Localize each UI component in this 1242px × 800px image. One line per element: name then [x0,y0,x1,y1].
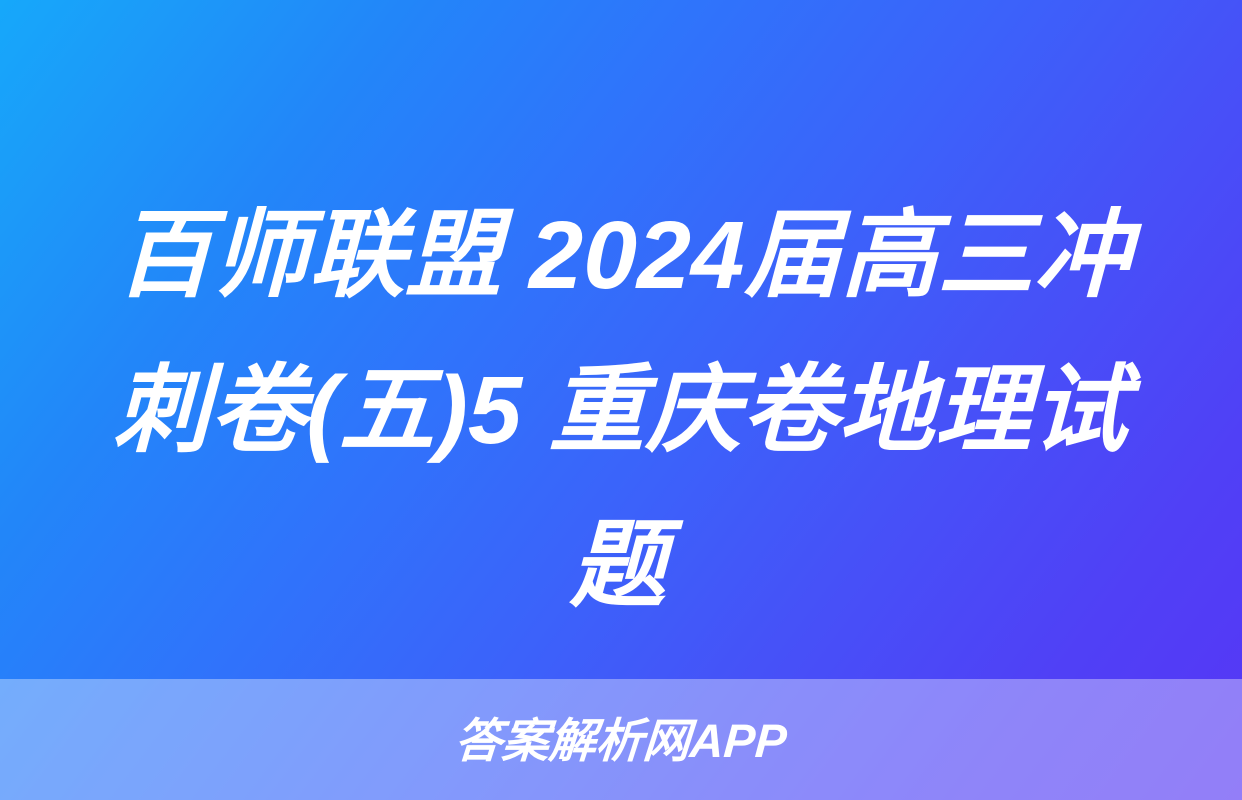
title-block: 百师联盟 2024届高三冲刺卷(五)5 重庆卷地理试题 [0,178,1242,643]
page-title: 百师联盟 2024届高三冲刺卷(五)5 重庆卷地理试题 [70,178,1172,643]
share-card: 百师联盟 2024届高三冲刺卷(五)5 重庆卷地理试题 答案解析网APP [0,0,1242,800]
watermark-app-label: 答案解析网APP [454,717,789,764]
watermark-band: 答案解析网APP [0,679,1242,800]
